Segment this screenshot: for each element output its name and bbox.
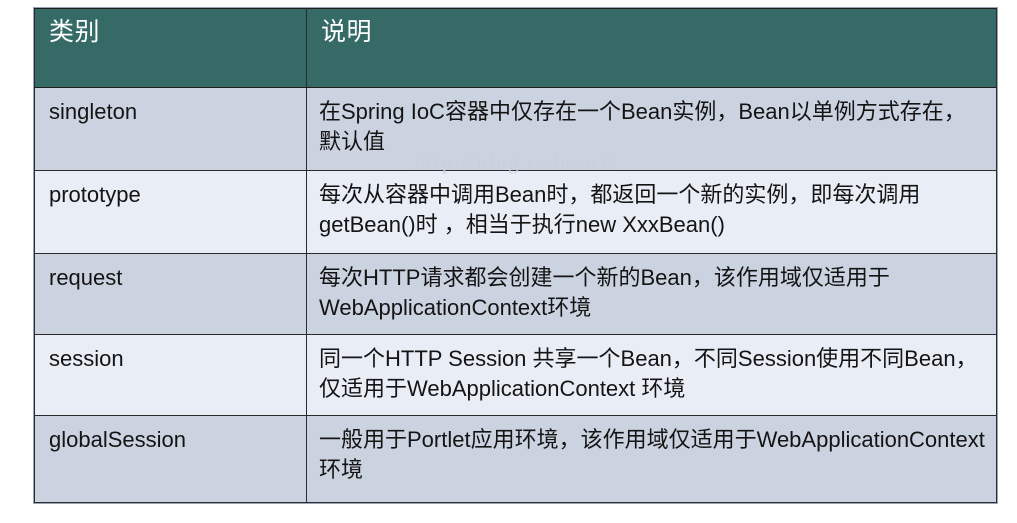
scope-name-session: session — [35, 335, 306, 372]
table-header-row: 类别 说明 — [35, 9, 997, 88]
scope-name-prototype: prototype — [35, 171, 306, 208]
scope-description-session: 同一个HTTP Session 共享一个Bean，不同Session使用不同Be… — [307, 335, 996, 411]
cell-description: 同一个HTTP Session 共享一个Bean，不同Session使用不同Be… — [307, 335, 997, 416]
table-row: prototype 每次从容器中调用Bean时，都返回一个新的实例，即每次调用g… — [35, 171, 997, 254]
scope-name-singleton: singleton — [35, 88, 306, 125]
scope-name-globalsession: globalSession — [35, 416, 306, 453]
cell-category: prototype — [35, 171, 307, 254]
cell-description: 一般用于Portlet应用环境，该作用域仅适用于WebApplicationCo… — [307, 416, 997, 503]
page-root: 类别 说明 singleton 在Spring IoC容器中仅存在一个Bean实… — [0, 0, 1017, 523]
table-row: singleton 在Spring IoC容器中仅存在一个Bean实例，Bean… — [35, 88, 997, 171]
table-row: session 同一个HTTP Session 共享一个Bean，不同Sessi… — [35, 335, 997, 416]
cell-category: globalSession — [35, 416, 307, 503]
table-row: request 每次HTTP请求都会创建一个新的Bean，该作用域仅适用于Web… — [35, 254, 997, 335]
column-header-category: 类别 — [35, 9, 307, 88]
cell-description: 每次HTTP请求都会创建一个新的Bean，该作用域仅适用于WebApplicat… — [307, 254, 997, 335]
scope-name-request: request — [35, 254, 306, 291]
scope-description-prototype: 每次从容器中调用Bean时，都返回一个新的实例，即每次调用getBean()时 … — [307, 171, 996, 247]
cell-category: request — [35, 254, 307, 335]
cell-category: singleton — [35, 88, 307, 171]
cell-category: session — [35, 335, 307, 416]
column-header-description: 说明 — [307, 9, 997, 88]
bean-scope-table: 类别 说明 singleton 在Spring IoC容器中仅存在一个Bean实… — [34, 8, 997, 503]
scope-description-globalsession: 一般用于Portlet应用环境，该作用域仅适用于WebApplicationCo… — [307, 416, 996, 492]
column-header-category-label: 类别 — [35, 9, 306, 47]
cell-description: 在Spring IoC容器中仅存在一个Bean实例，Bean以单例方式存在，默认… — [307, 88, 997, 171]
table-row: globalSession 一般用于Portlet应用环境，该作用域仅适用于We… — [35, 416, 997, 503]
table-body: singleton 在Spring IoC容器中仅存在一个Bean实例，Bean… — [35, 88, 997, 503]
scope-description-request: 每次HTTP请求都会创建一个新的Bean，该作用域仅适用于WebApplicat… — [307, 254, 996, 330]
scope-description-singleton: 在Spring IoC容器中仅存在一个Bean实例，Bean以单例方式存在，默认… — [307, 88, 996, 164]
column-header-description-label: 说明 — [307, 9, 996, 47]
cell-description: 每次从容器中调用Bean时，都返回一个新的实例，即每次调用getBean()时 … — [307, 171, 997, 254]
table-header: 类别 说明 — [35, 9, 997, 88]
